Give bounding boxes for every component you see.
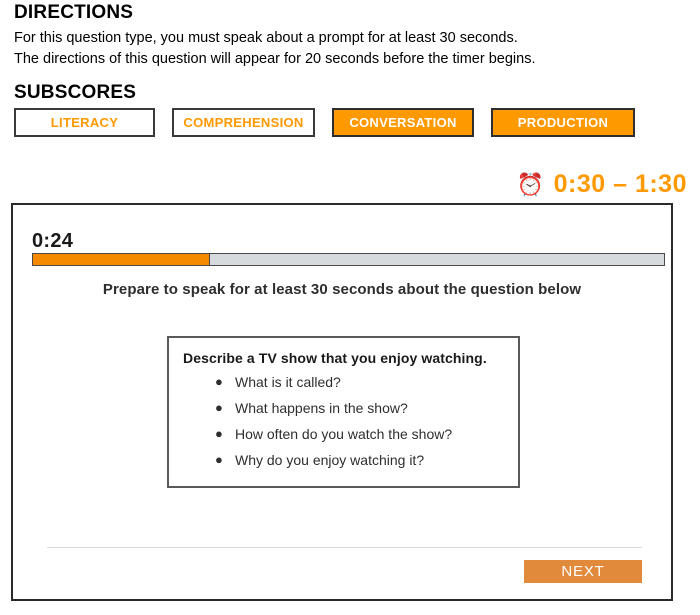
subscore-conversation[interactable]: CONVERSATION [332, 108, 474, 137]
prepare-instruction: Prepare to speak for at least 30 seconds… [13, 281, 671, 298]
bullet-icon: ● [215, 447, 223, 473]
question-title: Describe a TV show that you enjoy watchi… [183, 350, 504, 366]
countdown-timer: 0:24 [32, 230, 73, 253]
list-item-label: Why do you enjoy watching it? [235, 452, 424, 468]
bullet-icon: ● [215, 395, 223, 421]
subscore-literacy[interactable]: LITERACY [14, 108, 155, 137]
subscore-comprehension[interactable]: COMPREHENSION [172, 108, 315, 137]
subscore-production[interactable]: PRODUCTION [491, 108, 635, 137]
alarm-clock-icon: ⏰ [517, 174, 545, 196]
list-item-label: What is it called? [235, 374, 341, 390]
timer-range: ⏰ 0:30 – 1:30 [517, 170, 687, 199]
bullet-icon: ● [215, 369, 223, 395]
list-item: ● What is it called? [183, 369, 504, 395]
timer-range-label: 0:30 – 1:30 [554, 170, 687, 199]
footer-divider [47, 547, 642, 548]
next-button[interactable]: NEXT [524, 560, 642, 583]
subscore-button-row: LITERACY COMPREHENSION CONVERSATION PROD… [14, 108, 635, 137]
question-bullet-list: ● What is it called? ● What happens in t… [183, 369, 504, 473]
directions-body: For this question type, you must speak a… [14, 28, 535, 70]
directions-line-2: The directions of this question will app… [14, 49, 535, 70]
progress-bar-track [32, 253, 665, 266]
question-box: Describe a TV show that you enjoy watchi… [167, 336, 520, 488]
bullet-icon: ● [215, 421, 223, 447]
list-item: ● What happens in the show? [183, 395, 504, 421]
list-item-label: What happens in the show? [235, 400, 408, 416]
subscores-heading: SUBSCORES [14, 82, 136, 104]
list-item-label: How often do you watch the show? [235, 426, 452, 442]
directions-heading: DIRECTIONS [14, 2, 133, 24]
question-panel: 0:24 Prepare to speak for at least 30 se… [11, 203, 673, 601]
directions-line-1: For this question type, you must speak a… [14, 28, 535, 49]
list-item: ● Why do you enjoy watching it? [183, 447, 504, 473]
progress-bar-fill [33, 254, 210, 265]
list-item: ● How often do you watch the show? [183, 421, 504, 447]
